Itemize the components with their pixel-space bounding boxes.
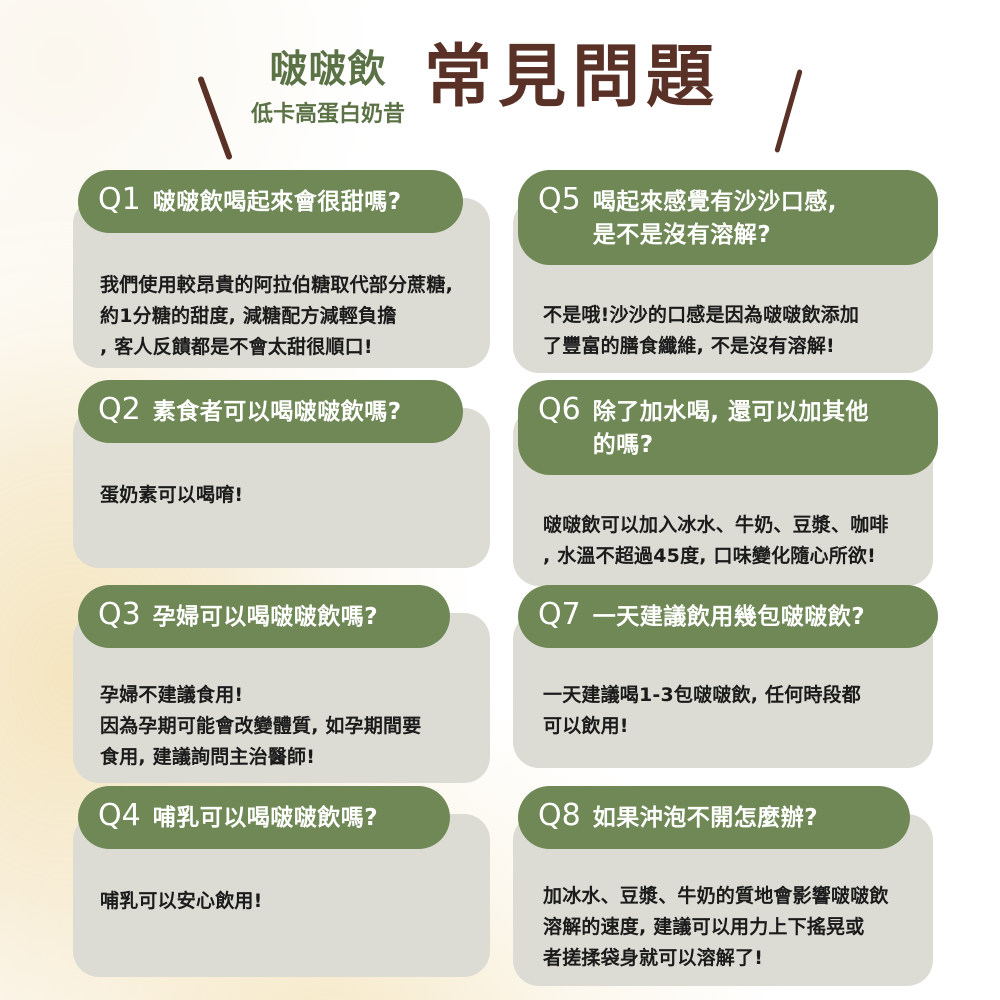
faq-answer-text: 我們使用較昂貴的阿拉伯糖取代部分蔗糖, 約1分糖的甜度, 減糖配方減輕負擔 , …: [100, 270, 472, 362]
faq-answer-text: 不是哦!沙沙的口感是因為啵啵飲添加 了豐富的膳食纖維, 不是沒有溶解!: [543, 300, 921, 362]
faq-question-number: Q8: [538, 798, 581, 835]
faq-question-text: 如果沖泡不開怎麼辦?: [593, 798, 818, 835]
faq-answer-text: 加冰水、豆漿、牛奶的質地會影響啵啵飲 溶解的速度, 建議可以用力上下搖晃或 者搓…: [543, 881, 921, 973]
faq-question-text: 啵啵飲喝起來會很甜嗎?: [153, 182, 402, 219]
faq-question-pill[interactable]: Q1 啵啵飲喝起來會很甜嗎?: [78, 170, 463, 233]
faq-question-text: 素食者可以喝啵啵飲嗎?: [153, 392, 402, 429]
faq-answer-text: 啵啵飲可以加入冰水、牛奶、豆漿、咖啡 , 水溫不超過45度, 口味變化隨心所欲!: [543, 510, 921, 572]
faq-question-pill[interactable]: Q5 喝起來感覺有沙沙口感, 是不是沒有溶解?: [518, 170, 938, 265]
faq-question-number: Q5: [538, 182, 581, 219]
faq-question-pill[interactable]: Q3 孕婦可以喝啵啵飲嗎?: [78, 585, 450, 648]
faq-question-pill[interactable]: Q2 素食者可以喝啵啵飲嗎?: [78, 380, 463, 443]
faq-question-text: 除了加水喝, 還可以加其他 的嗎?: [593, 392, 869, 461]
faq-question-text: 喝起來感覺有沙沙口感, 是不是沒有溶解?: [593, 182, 837, 251]
faq-question-number: Q1: [98, 182, 141, 219]
faq-question-number: Q4: [98, 798, 141, 835]
faq-page: 啵啵飲 低卡高蛋白奶昔 常見問題 我們使用較昂貴的阿拉伯糖取代部分蔗糖, 約1分…: [0, 0, 1000, 1000]
faq-answer-text: 蛋奶素可以喝唷!: [100, 480, 472, 511]
faq-answer-text: 孕婦不建議食用! 因為孕期可能會改變體質, 如孕期間要 食用, 建議詢問主治醫師…: [100, 680, 472, 772]
faq-question-number: Q7: [538, 597, 581, 634]
faq-answer-text: 哺乳可以安心飲用!: [100, 886, 472, 917]
faq-question-number: Q3: [98, 597, 141, 634]
faq-question-number: Q6: [538, 392, 581, 429]
faq-question-pill[interactable]: Q8 如果沖泡不開怎麼辦?: [518, 786, 910, 849]
faq-question-number: Q2: [98, 392, 141, 429]
faq-question-text: 孕婦可以喝啵啵飲嗎?: [153, 597, 378, 634]
faq-question-text: 哺乳可以喝啵啵飲嗎?: [153, 798, 378, 835]
faq-question-text: 一天建議飲用幾包啵啵飲?: [593, 597, 865, 634]
faq-grid: 我們使用較昂貴的阿拉伯糖取代部分蔗糖, 約1分糖的甜度, 減糖配方減輕負擔 , …: [0, 0, 1000, 1000]
faq-question-pill[interactable]: Q6 除了加水喝, 還可以加其他 的嗎?: [518, 380, 938, 475]
faq-answer-text: 一天建議喝1-3包啵啵飲, 任何時段都 可以飲用!: [543, 680, 921, 742]
faq-question-pill[interactable]: Q7 一天建議飲用幾包啵啵飲?: [518, 585, 938, 648]
faq-question-pill[interactable]: Q4 哺乳可以喝啵啵飲嗎?: [78, 786, 450, 849]
